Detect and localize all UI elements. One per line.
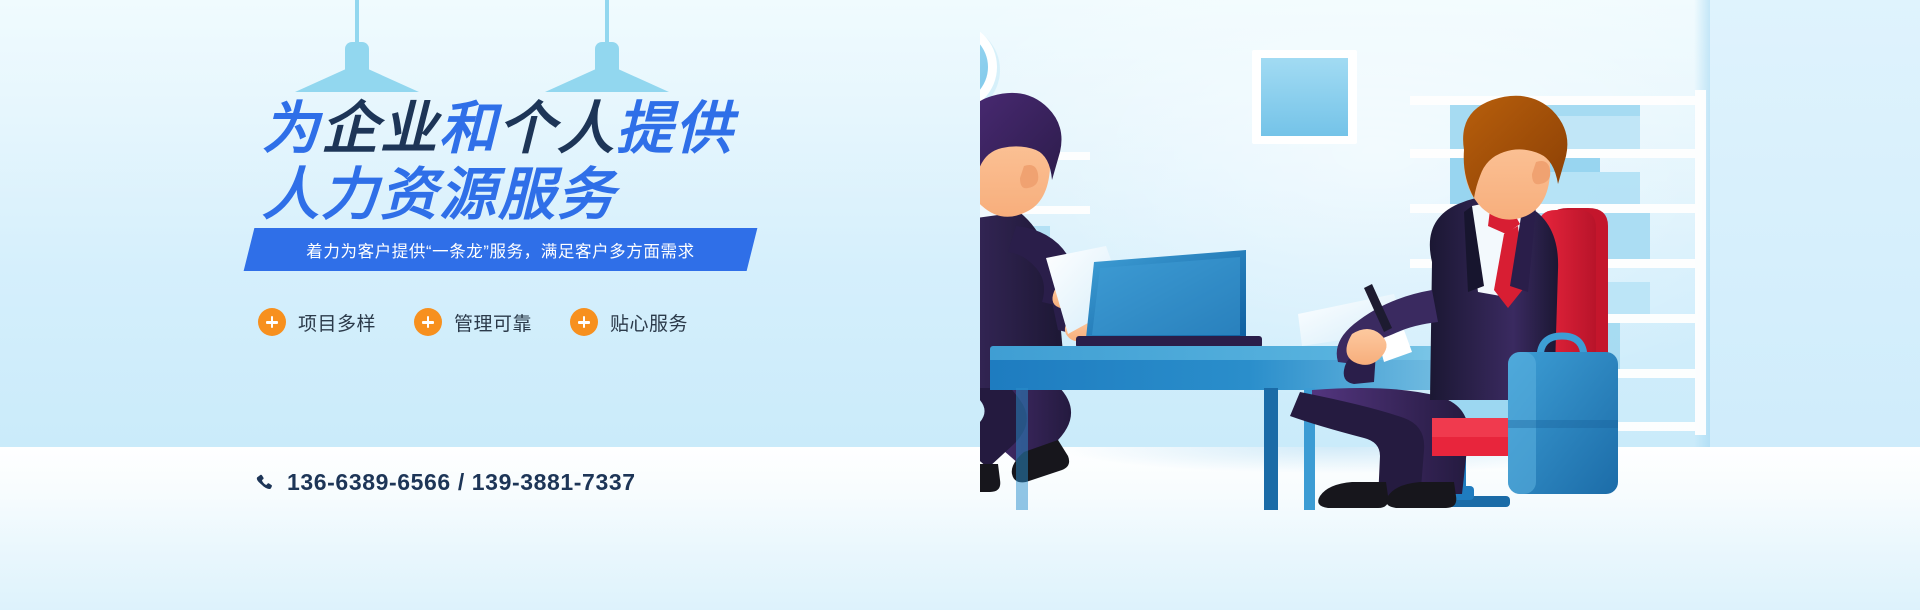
feature-label: 贴心服务 xyxy=(610,309,688,336)
headline-segment: 人力资源服务 xyxy=(262,163,616,227)
lamp-shade xyxy=(295,64,419,92)
laptop xyxy=(1076,250,1262,348)
headline-segment: 个人 xyxy=(498,97,616,161)
feature-item[interactable]: 贴心服务 xyxy=(570,308,688,336)
pendant-lamp-icon xyxy=(545,0,669,94)
phone-contact[interactable]: 136-6389-6566 / 139-3881-7337 xyxy=(255,469,636,496)
picture-frame xyxy=(1252,50,1357,144)
plus-icon xyxy=(414,308,442,336)
headline-segment: 企业 xyxy=(321,97,439,161)
headline-segment: 提供 xyxy=(616,97,734,161)
headline-line-1: 为企业和个人提供 xyxy=(262,96,734,162)
hero-banner: 为企业和个人提供 人力资源服务 着力为客户提供“一条龙”服务，满足客户多方面需求… xyxy=(0,0,1920,610)
plus-icon xyxy=(570,308,598,336)
feature-label: 管理可靠 xyxy=(454,309,532,336)
phone-icon xyxy=(255,472,275,494)
feature-item[interactable]: 管理可靠 xyxy=(414,308,532,336)
headline-segment: 为 xyxy=(262,97,321,161)
lamp-cord xyxy=(605,0,609,44)
plus-icon xyxy=(258,308,286,336)
feature-label: 项目多样 xyxy=(298,309,376,336)
headline-line-2: 人力资源服务 xyxy=(262,162,734,228)
headline: 为企业和个人提供 人力资源服务 xyxy=(262,96,734,228)
subtitle-text: 着力为客户提供“一条龙”服务，满足客户多方面需求 xyxy=(249,228,752,271)
feature-item[interactable]: 项目多样 xyxy=(258,308,376,336)
phone-number: 136-6389-6566 / 139-3881-7337 xyxy=(287,469,636,496)
pendant-lamp-icon xyxy=(295,0,419,94)
headline-segment: 和 xyxy=(439,97,498,161)
briefcase xyxy=(1508,336,1618,494)
lamp-shade xyxy=(545,64,669,92)
lamp-cord xyxy=(355,0,359,44)
office-illustration xyxy=(980,0,1920,610)
subtitle-ribbon: 着力为客户提供“一条龙”服务，满足客户多方面需求 xyxy=(249,228,752,271)
feature-list: 项目多样 管理可靠 贴心服务 xyxy=(258,308,688,336)
